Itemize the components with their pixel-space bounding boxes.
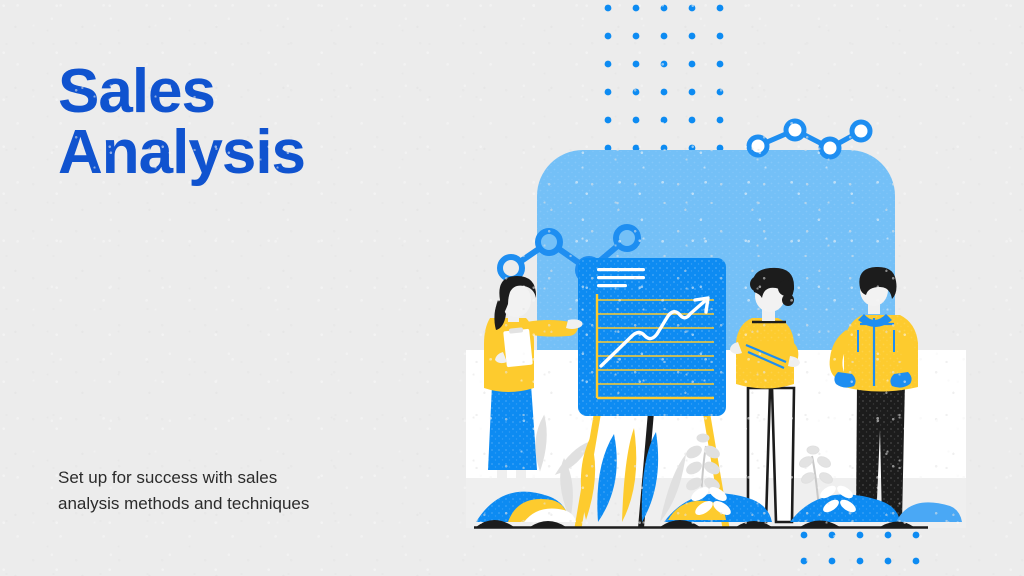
page-subtitle: Set up for success with sales analysis m… [58, 465, 388, 516]
slide-canvas: Sales Analysis Set up for success with s… [0, 0, 1024, 576]
dot-grid-bottom-icon [801, 532, 920, 565]
page-title: Sales Analysis [58, 62, 305, 184]
dot-grid-top-icon [605, 5, 724, 152]
presentation-board [578, 258, 726, 416]
